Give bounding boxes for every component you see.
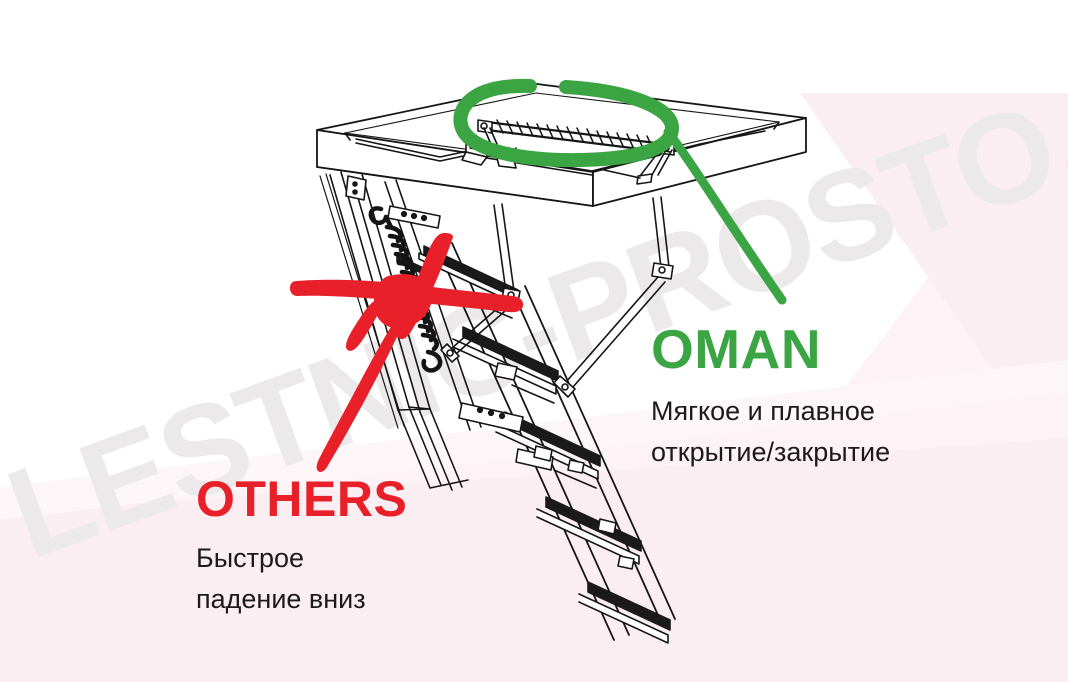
others-headline: OTHERS xyxy=(196,474,407,524)
others-line-2: падение вниз xyxy=(196,579,407,620)
callout-others: OTHERS Быстрое падение вниз xyxy=(196,474,407,620)
illustration-canvas: LESTNIC-PROSTO.RU xyxy=(0,0,1068,682)
others-line-1: Быстрое xyxy=(196,538,407,579)
oman-line-2: открытие/закрытие xyxy=(651,432,890,473)
callout-oman: OMAN Мягкое и плавное открытие/закрытие xyxy=(651,322,890,473)
callout-labels: OMAN Мягкое и плавное открытие/закрытие … xyxy=(0,0,1068,682)
oman-line-1: Мягкое и плавное xyxy=(651,391,890,432)
oman-headline: OMAN xyxy=(651,322,890,377)
